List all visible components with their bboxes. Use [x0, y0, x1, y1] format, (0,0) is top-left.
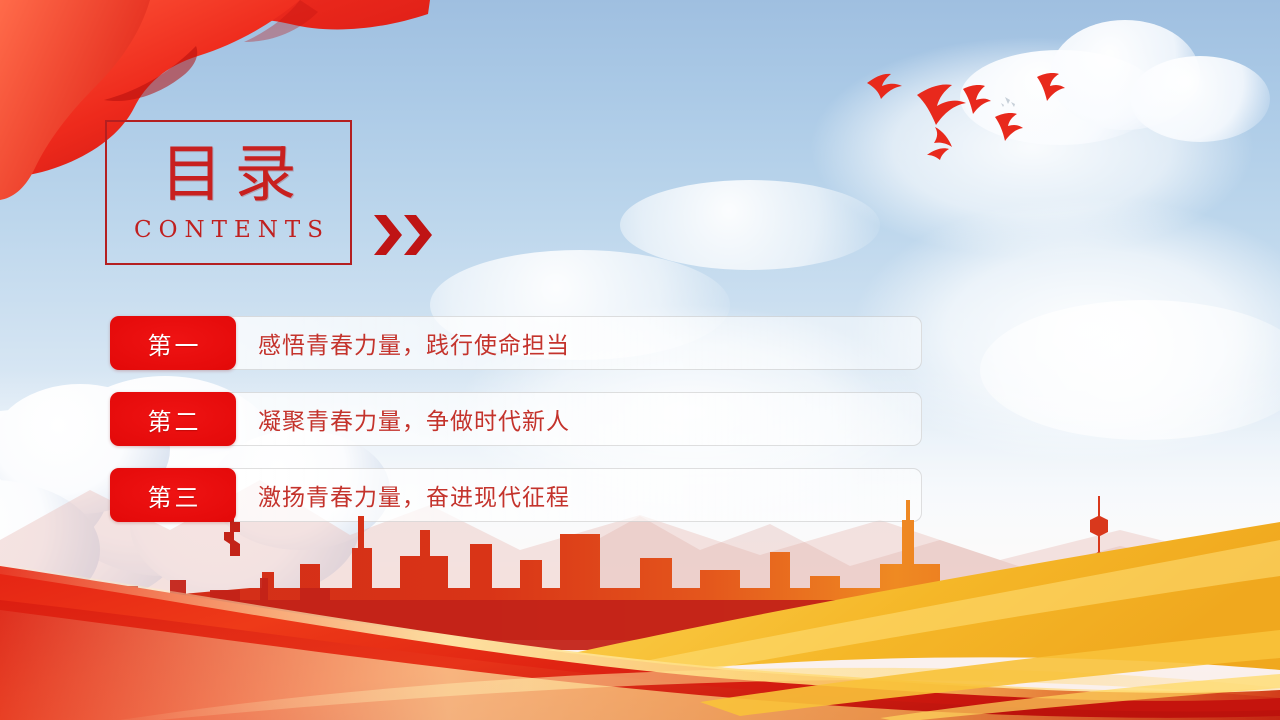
item-number-badge[interactable]: 第一 — [110, 316, 236, 370]
slide-canvas: 目录 CONTENTS 第一 感悟青春力量，践行使命担当 第二 凝聚青春力量，争… — [0, 0, 1280, 720]
item-title: 凝聚青春力量，争做时代新人 — [258, 402, 570, 436]
item-number-badge[interactable]: 第二 — [110, 392, 236, 446]
item-number-label: 第二 — [145, 402, 202, 437]
cloud-small-upper — [620, 180, 880, 270]
page-subtitle: CONTENTS — [127, 219, 330, 242]
item-title: 激扬青春力量，奋进现代征程 — [258, 478, 570, 512]
page-title: 目录 — [148, 143, 308, 205]
double-chevron-right-icon — [372, 212, 436, 258]
flying-birds-icon — [855, 55, 1085, 175]
list-item[interactable]: 第一 感悟青春力量，践行使命担当 — [110, 316, 922, 370]
item-number-badge[interactable]: 第三 — [110, 468, 236, 522]
contents-title-box: 目录 CONTENTS — [105, 120, 352, 265]
item-title: 感悟青春力量，践行使命担当 — [258, 326, 570, 360]
item-number-label: 第三 — [145, 478, 202, 513]
list-item[interactable]: 第二 凝聚青春力量，争做时代新人 — [110, 392, 922, 446]
item-number-label: 第一 — [145, 326, 202, 361]
